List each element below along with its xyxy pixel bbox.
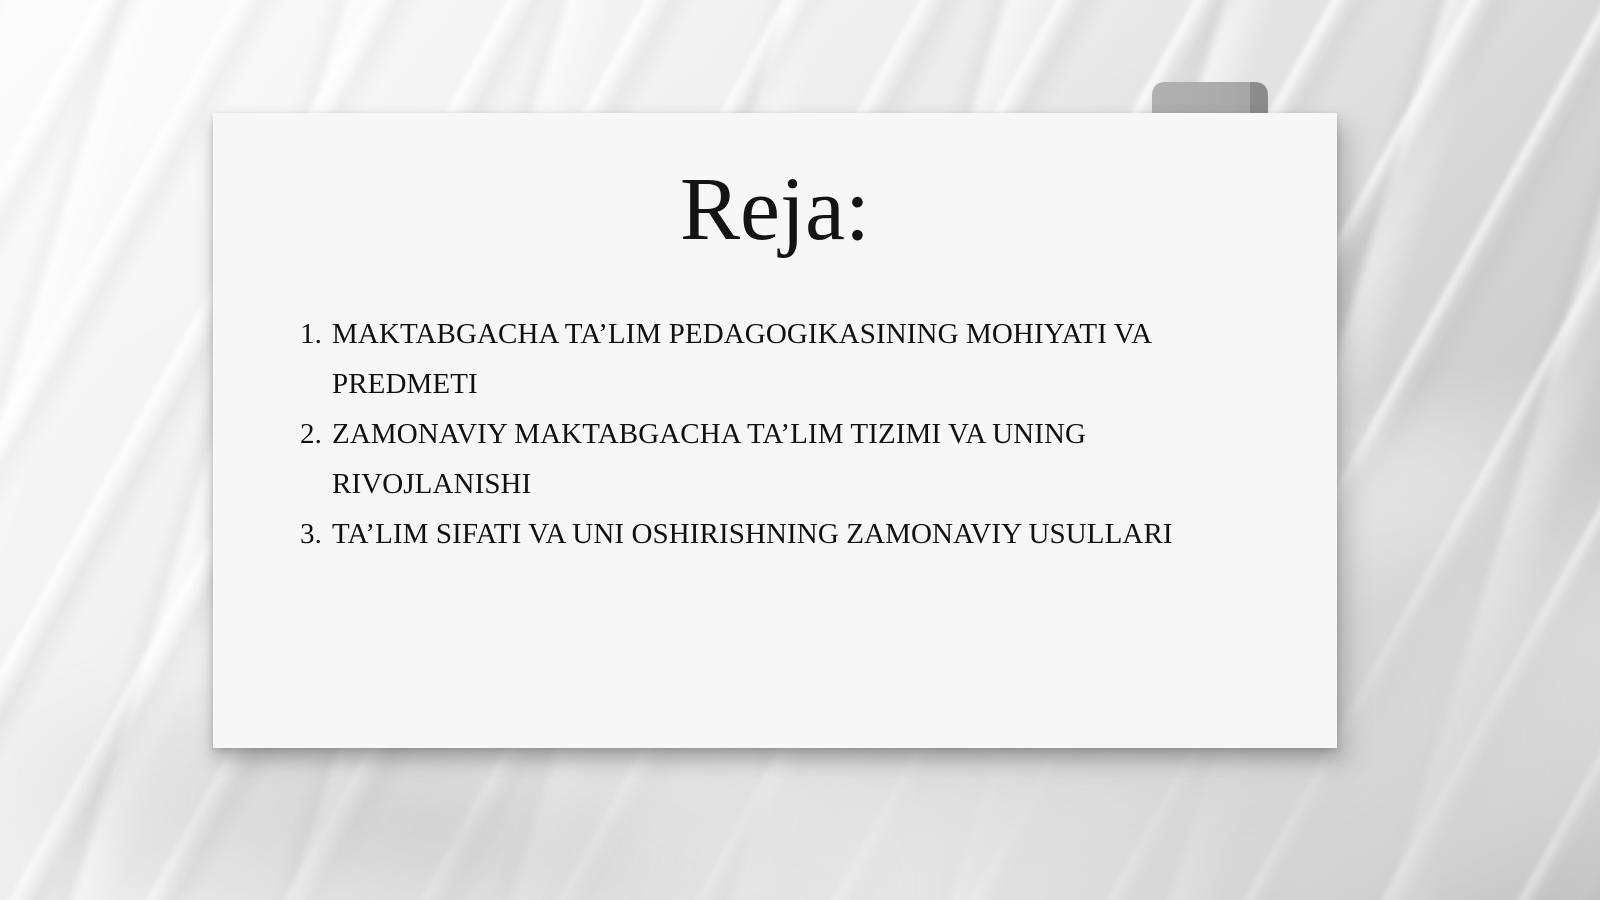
list-item: 2. ZAMONAVIY MAKTABGACHA TA’LIM TIZIMI V… [300, 409, 1290, 509]
list-item-number: 1. [300, 309, 332, 359]
list-item-label: MAKTABGACHA TA’LIM PEDAGOGIKASINING MOHI… [332, 309, 1290, 409]
agenda-list: 1. MAKTABGACHA TA’LIM PEDAGOGIKASINING M… [300, 309, 1290, 559]
list-item: 1. MAKTABGACHA TA’LIM PEDAGOGIKASINING M… [300, 309, 1290, 409]
list-item: 3. TA’LIM SIFATI VA UNI OSHIRISHNING ZAM… [300, 509, 1290, 559]
list-item-label: TA’LIM SIFATI VA UNI OSHIRISHNING ZAMONA… [332, 509, 1290, 559]
page-title: Reja: [213, 161, 1337, 258]
list-item-number: 2. [300, 409, 332, 459]
list-item-number: 3. [300, 509, 332, 559]
slide-card: Reja: 1. MAKTABGACHA TA’LIM PEDAGOGIKASI… [213, 113, 1337, 748]
list-item-label: ZAMONAVIY MAKTABGACHA TA’LIM TIZIMI VA U… [332, 409, 1290, 509]
presentation-slide: Reja: 1. MAKTABGACHA TA’LIM PEDAGOGIKASI… [0, 0, 1600, 900]
slide-card-content: Reja: 1. MAKTABGACHA TA’LIM PEDAGOGIKASI… [213, 113, 1337, 748]
